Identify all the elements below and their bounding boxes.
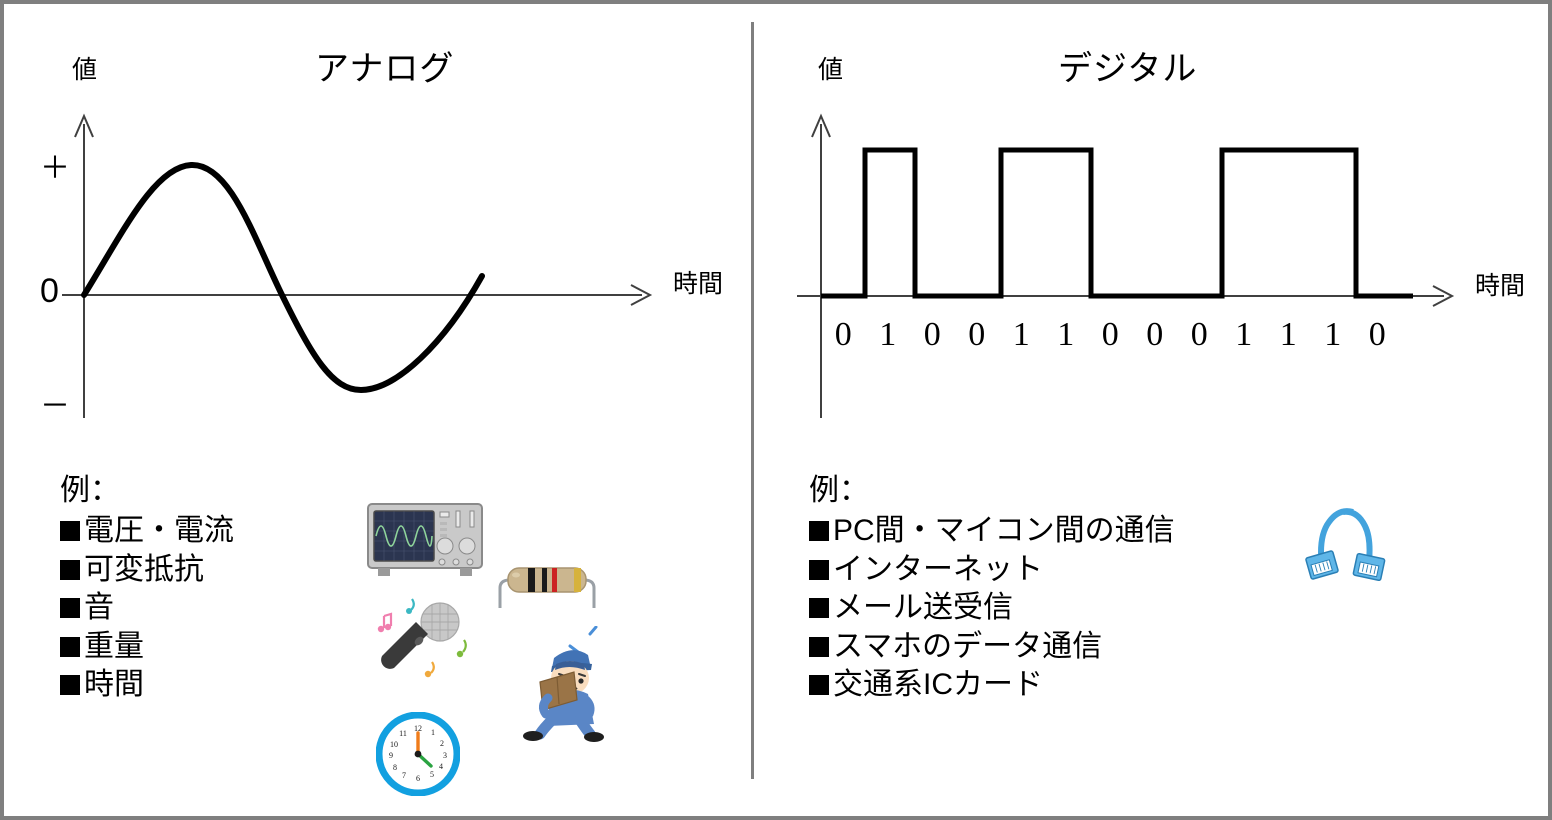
clock-icon: 1212 345 678 91011 xyxy=(376,712,460,796)
bullet-square-icon xyxy=(809,637,829,657)
analog-example-item: 可変抵抗 xyxy=(60,551,234,589)
digital-bit: 0 xyxy=(1177,318,1222,352)
digital-bit: 0 xyxy=(1355,318,1400,352)
worker-carrying-box-icon xyxy=(502,626,612,744)
analog-waveform-chart xyxy=(4,4,753,464)
digital-example-label: 交通系ICカード xyxy=(833,668,1043,701)
digital-panel: デジタル 値 時間 0100110001110 例： PC間・マイコン間の通信 … xyxy=(753,4,1552,820)
resistor-icon xyxy=(492,556,602,616)
digital-bit: 0 xyxy=(955,318,1000,352)
svg-text:2: 2 xyxy=(440,739,444,748)
analog-example-item: 時間 xyxy=(60,666,234,704)
oscilloscope-icon xyxy=(366,502,484,582)
slide-root: アナログ 値 時間 ＋ 0 － 例： 電圧・電流 可変抵抗 音 xyxy=(0,0,1552,820)
digital-examples-header: 例： xyxy=(809,472,1175,510)
bullet-square-icon xyxy=(60,521,80,541)
digital-bit: 0 xyxy=(1088,318,1133,352)
digital-bit: 0 xyxy=(821,318,866,352)
digital-example-item: インターネット xyxy=(809,551,1175,589)
analog-example-label: 電圧・電流 xyxy=(84,514,234,547)
digital-bit-labels: 0100110001110 xyxy=(821,318,1441,352)
analog-example-item: 音 xyxy=(60,589,234,627)
analog-example-label: 重量 xyxy=(84,630,144,663)
bullet-square-icon xyxy=(809,521,829,541)
digital-bit: 1 xyxy=(999,318,1044,352)
digital-bit: 1 xyxy=(1222,318,1267,352)
analog-panel: アナログ 値 時間 ＋ 0 － 例： 電圧・電流 可変抵抗 音 xyxy=(4,4,753,820)
microphone-icon xyxy=(372,594,480,682)
bullet-square-icon xyxy=(60,637,80,657)
digital-bit: 1 xyxy=(1311,318,1356,352)
digital-example-item: 交通系ICカード xyxy=(809,666,1175,704)
bullet-square-icon xyxy=(809,675,829,695)
svg-text:10: 10 xyxy=(390,740,398,749)
analog-examples-list: 例： 電圧・電流 可変抵抗 音 重量 時間 xyxy=(60,472,234,704)
svg-text:1: 1 xyxy=(431,728,435,737)
analog-example-label: 時間 xyxy=(84,668,144,701)
digital-bit: 0 xyxy=(1133,318,1178,352)
digital-examples-list: 例： PC間・マイコン間の通信 インターネット メール送受信 スマホのデータ通信… xyxy=(809,472,1175,704)
bullet-square-icon xyxy=(60,560,80,580)
analog-example-label: 音 xyxy=(84,591,114,624)
digital-bit: 1 xyxy=(866,318,911,352)
digital-square-wave xyxy=(821,150,1413,296)
digital-example-label: インターネット xyxy=(833,553,1043,586)
svg-text:7: 7 xyxy=(402,771,406,780)
digital-bit: 1 xyxy=(1044,318,1089,352)
analog-example-item: 電圧・電流 xyxy=(60,512,234,550)
digital-waveform-chart xyxy=(753,4,1552,464)
lan-cable-icon xyxy=(1301,504,1411,582)
svg-text:11: 11 xyxy=(399,729,407,738)
digital-example-item: PC間・マイコン間の通信 xyxy=(809,512,1175,550)
svg-text:3: 3 xyxy=(443,751,447,760)
bullet-square-icon xyxy=(60,675,80,695)
digital-example-label: スマホのデータ通信 xyxy=(833,630,1102,663)
bullet-square-icon xyxy=(60,598,80,618)
digital-example-label: メール送受信 xyxy=(833,591,1013,624)
analog-example-label: 可変抵抗 xyxy=(84,553,204,586)
digital-example-item: スマホのデータ通信 xyxy=(809,628,1175,666)
svg-text:9: 9 xyxy=(389,751,393,760)
analog-examples-header: 例： xyxy=(60,472,234,510)
svg-text:8: 8 xyxy=(393,763,397,772)
analog-sine-curve xyxy=(84,165,482,390)
bullet-square-icon xyxy=(809,598,829,618)
digital-bit: 1 xyxy=(1266,318,1311,352)
svg-text:4: 4 xyxy=(439,762,443,771)
digital-example-label: PC間・マイコン間の通信 xyxy=(833,514,1175,547)
digital-example-item: メール送受信 xyxy=(809,589,1175,627)
digital-bit: 0 xyxy=(910,318,955,352)
svg-text:5: 5 xyxy=(430,770,434,779)
svg-text:6: 6 xyxy=(416,774,420,783)
bullet-square-icon xyxy=(809,560,829,580)
analog-example-item: 重量 xyxy=(60,628,234,666)
